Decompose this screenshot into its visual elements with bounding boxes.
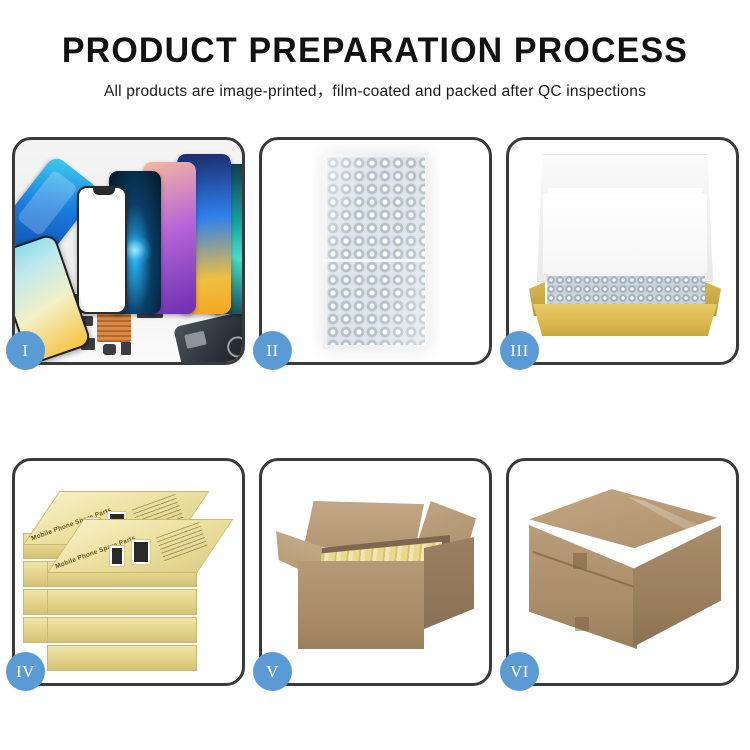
- carton-tab-lower: [575, 617, 589, 631]
- step-2-image: [262, 140, 489, 362]
- carton-side-panel: [424, 537, 474, 629]
- retail-box-print-thumb: [131, 539, 151, 565]
- process-step-grid: I II III: [12, 137, 739, 686]
- retail-box-edge: [47, 617, 197, 643]
- page-title: PRODUCT PREPARATION PROCESS: [11, 30, 739, 72]
- step-1-image: [15, 140, 242, 362]
- page-subtitle: All products are image-printed，film-coat…: [0, 79, 750, 101]
- phone-screen-fan: [75, 154, 242, 314]
- process-step-panel-4[interactable]: Mobile Phone Spare Parts Mobile Phone Sp…: [12, 458, 245, 686]
- step-badge-6: VI: [500, 652, 539, 691]
- step-badge-1: I: [6, 331, 45, 370]
- phone-screen-white-icon: [77, 186, 127, 314]
- process-step-panel-3[interactable]: III: [506, 137, 739, 365]
- carton-tab-upper: [573, 553, 587, 569]
- shield-can-part-icon: [121, 342, 131, 355]
- foam-insert-icon: [543, 194, 707, 274]
- step-badge-5: V: [253, 652, 292, 691]
- retail-box-print-thumb: [109, 545, 125, 567]
- step-badge-4: IV: [6, 652, 45, 691]
- step-6-image: [509, 461, 736, 683]
- step-badge-2: II: [253, 331, 292, 370]
- inner-box-front-panel: [533, 304, 717, 336]
- step-5-image: [262, 461, 489, 683]
- bubble-wrap-gloss: [323, 153, 429, 349]
- shipping-carton-sealed: [525, 489, 721, 657]
- retail-box-edge: [47, 645, 197, 671]
- retail-box-stack: Mobile Phone Spare Parts Mobile Phone Sp…: [23, 477, 233, 673]
- carton-front-panel: [298, 561, 424, 649]
- step-4-image: Mobile Phone Spare Parts Mobile Phone Sp…: [15, 461, 242, 683]
- page-header: PRODUCT PREPARATION PROCESS All products…: [0, 0, 750, 101]
- copper-mesh-part-icon: [97, 312, 131, 342]
- process-step-panel-2[interactable]: II: [259, 137, 492, 365]
- process-step-panel-1[interactable]: I: [12, 137, 245, 365]
- process-step-panel-5[interactable]: V: [259, 458, 492, 686]
- retail-box-edge: [47, 589, 197, 615]
- step-3-image: [509, 140, 736, 362]
- inner-box-open: [527, 154, 723, 336]
- process-step-panel-6[interactable]: VI: [506, 458, 739, 686]
- sim-tray-part-icon: [103, 344, 116, 355]
- bubble-wrap-pouch: [323, 153, 429, 349]
- step-badge-3: III: [500, 331, 539, 370]
- shipping-carton-open: [276, 487, 476, 663]
- logic-board-icon: [173, 310, 242, 362]
